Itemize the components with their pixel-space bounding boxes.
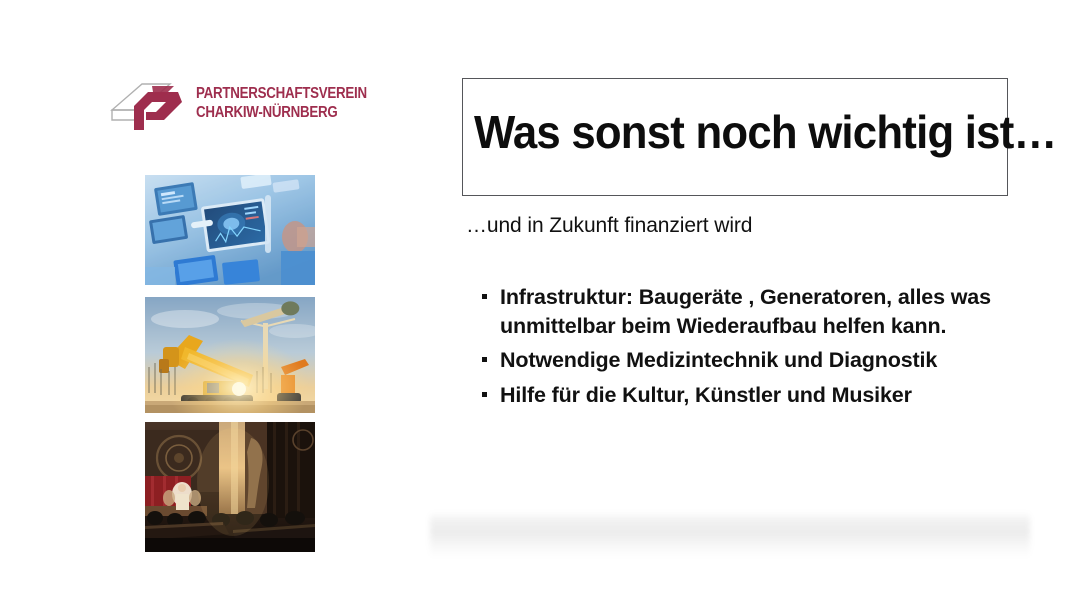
photo-medical-operating-room [145,175,315,285]
list-item: Hilfe für die Kultur, Künstler und Musik… [478,381,1006,410]
title-box: Was sonst noch wichtig ist… [462,78,1008,196]
photo-construction-crane [145,297,315,413]
logo-wordmark: PARTNERSCHAFTSVEREIN CHARKIW-NÜRNBERG [196,84,355,122]
organization-logo: PARTNERSCHAFTSVEREIN CHARKIW-NÜRNBERG [108,78,378,140]
list-item: Infrastruktur: Baugeräte , Generatoren, … [478,283,1006,340]
square-bullet-icon [482,357,487,362]
logo-line-2: CHARKIW-NÜRNBERG [196,103,355,122]
page-title: Was sonst noch wichtig ist… [474,105,1056,159]
square-bullet-icon [482,294,487,299]
presentation-slide: PARTNERSCHAFTSVEREIN CHARKIW-NÜRNBERG [0,0,1067,600]
logo-line-1: PARTNERSCHAFTSVEREIN [196,85,367,102]
photo-concert-hall [145,422,315,552]
list-item-text: Notwendige Medizintechnik und Diagnostik [500,348,937,372]
list-item: Notwendige Medizintechnik und Diagnostik [478,346,1006,375]
bottom-shadow-band [430,512,1030,558]
subtitle-text: …und in Zukunft finanziert wird [466,212,752,240]
square-bullet-icon [482,392,487,397]
list-item-text: Infrastruktur: Baugeräte , Generatoren, … [500,285,991,338]
spiral-logo-mark-icon [108,80,192,138]
bullet-list: Infrastruktur: Baugeräte , Generatoren, … [478,283,1006,415]
list-item-text: Hilfe für die Kultur, Künstler und Musik… [500,383,912,407]
